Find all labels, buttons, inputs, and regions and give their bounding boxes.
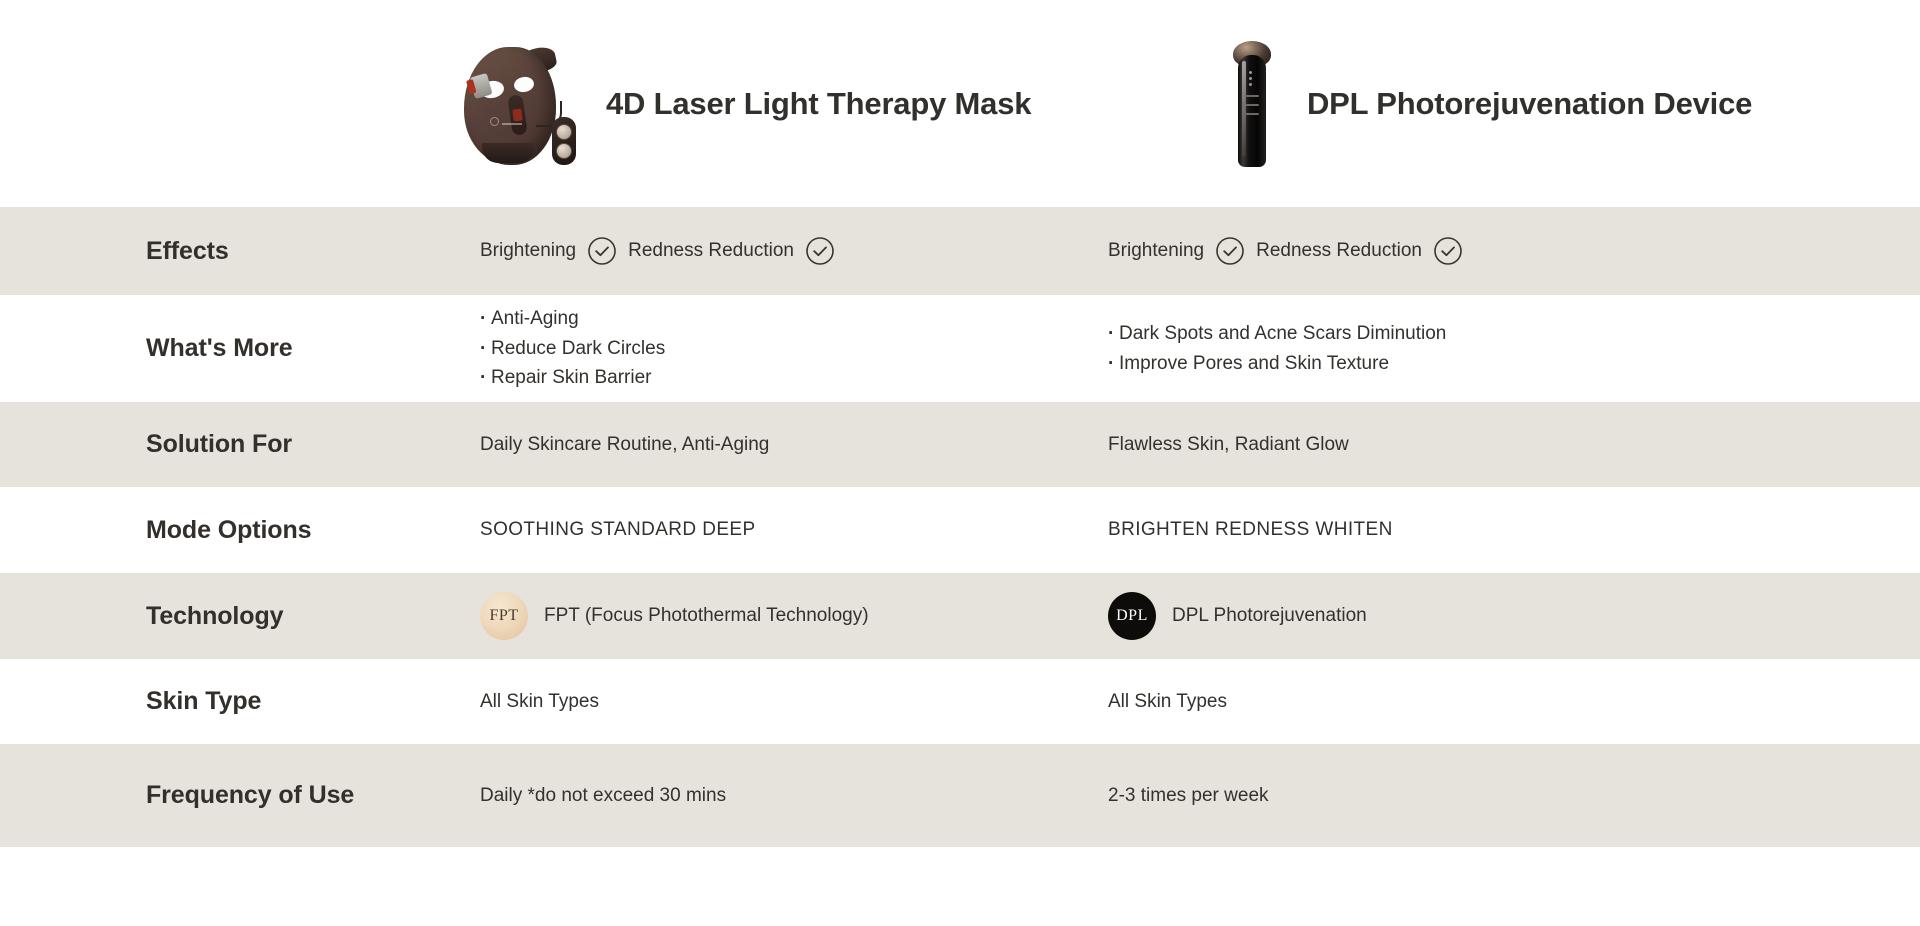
- value-text: SOOTHING STANDARD DEEP: [480, 516, 1088, 544]
- product-title-a: 4D Laser Light Therapy Mask: [606, 86, 1031, 122]
- mask-chin-strap-shape: [482, 143, 534, 163]
- value-text: Daily Skincare Routine, Anti-Aging: [480, 431, 1088, 459]
- row-label-effects: Effects: [0, 237, 480, 266]
- product-header-b: DPL Photorejuvenation Device: [1225, 0, 1885, 207]
- check-circle-icon: [1215, 236, 1245, 266]
- effect-label-brightening-a: Brightening: [480, 240, 576, 262]
- value-text: FPT (Focus Photothermal Technology): [544, 605, 869, 627]
- comparison-header: 4D Laser Light Therapy Mask DPL Photorej…: [0, 0, 1920, 207]
- comparison-table: Effects Brightening Redness Reduction Br…: [0, 207, 1920, 847]
- list-item: Improve Pores and Skin Texture: [1108, 349, 1788, 378]
- mask-brand-logo-icon: [490, 117, 524, 129]
- value-text: Flawless Skin, Radiant Glow: [1108, 431, 1788, 459]
- check-circle-icon: [805, 236, 835, 266]
- table-row-solution-for: Solution For Daily Skincare Routine, Ant…: [0, 402, 1920, 487]
- table-row-frequency-of-use: Frequency of Use Daily *do not exceed 30…: [0, 744, 1920, 847]
- bullet-list-a: Anti-Aging Reduce Dark Circles Repair Sk…: [480, 304, 1088, 392]
- value-text: All Skin Types: [480, 688, 1088, 716]
- row-label-technology: Technology: [0, 602, 480, 631]
- row-label-frequency-of-use: Frequency of Use: [0, 781, 480, 810]
- row-label-mode-options: Mode Options: [0, 516, 480, 545]
- value-text: BRIGHTEN REDNESS WHITEN: [1108, 516, 1788, 544]
- 4d-laser-light-therapy-mask-image: [460, 39, 580, 169]
- value-text: 2-3 times per week: [1108, 782, 1788, 810]
- cell-mode-options-product-b: BRIGHTEN REDNESS WHITEN: [1108, 516, 1808, 544]
- wand-indicator-dots-icon: [1249, 71, 1255, 87]
- effect-label-brightening-b: Brightening: [1108, 240, 1204, 262]
- table-row-whats-more: What's More Anti-Aging Reduce Dark Circl…: [0, 295, 1920, 402]
- cell-frequency-of-use-product-a: Daily *do not exceed 30 mins: [480, 782, 1108, 810]
- product-comparison-page: 4D Laser Light Therapy Mask DPL Photorej…: [0, 0, 1920, 926]
- effect-label-redness-reduction-b: Redness Reduction: [1256, 240, 1422, 262]
- value-text: DPL Photorejuvenation: [1172, 605, 1367, 627]
- list-item: Repair Skin Barrier: [480, 363, 1088, 392]
- check-circle-icon: [587, 236, 617, 266]
- row-label-skin-type: Skin Type: [0, 687, 480, 716]
- cell-solution-for-product-a: Daily Skincare Routine, Anti-Aging: [480, 431, 1108, 459]
- mask-remote-shape: [552, 117, 576, 165]
- cell-skin-type-product-a: All Skin Types: [480, 688, 1108, 716]
- bullet-list-b: Dark Spots and Acne Scars Diminution Imp…: [1108, 319, 1788, 378]
- mask-remote-button-top: [556, 124, 572, 140]
- fpt-badge-icon: FPT: [480, 592, 528, 640]
- mask-remote-button-bottom: [556, 143, 572, 159]
- cell-technology-product-b: DPL DPL Photorejuvenation: [1108, 592, 1808, 640]
- row-label-solution-for: Solution For: [0, 430, 480, 459]
- effect-label-redness-reduction-a: Redness Reduction: [628, 240, 794, 262]
- cell-effects-product-b: Brightening Redness Reduction: [1108, 236, 1808, 266]
- row-label-whats-more: What's More: [0, 334, 480, 363]
- dpl-badge-icon: DPL: [1108, 592, 1156, 640]
- product-title-b: DPL Photorejuvenation Device: [1307, 86, 1752, 122]
- check-circle-icon: [1433, 236, 1463, 266]
- cell-effects-product-a: Brightening Redness Reduction: [480, 236, 1108, 266]
- cell-solution-for-product-b: Flawless Skin, Radiant Glow: [1108, 431, 1808, 459]
- cell-frequency-of-use-product-b: 2-3 times per week: [1108, 782, 1808, 810]
- table-row-skin-type: Skin Type All Skin Types All Skin Types: [0, 659, 1920, 744]
- cell-skin-type-product-b: All Skin Types: [1108, 688, 1808, 716]
- list-item: Anti-Aging: [480, 304, 1088, 333]
- value-text: Daily *do not exceed 30 mins: [480, 782, 1088, 810]
- wand-level-lines-icon: [1245, 95, 1259, 122]
- value-text: All Skin Types: [1108, 688, 1788, 716]
- cell-mode-options-product-a: SOOTHING STANDARD DEEP: [480, 516, 1108, 544]
- dpl-photorejuvenation-device-image: [1225, 39, 1279, 169]
- cell-whats-more-product-a: Anti-Aging Reduce Dark Circles Repair Sk…: [480, 304, 1108, 392]
- list-item: Dark Spots and Acne Scars Diminution: [1108, 319, 1788, 348]
- cell-whats-more-product-b: Dark Spots and Acne Scars Diminution Imp…: [1108, 319, 1808, 378]
- product-header-a: 4D Laser Light Therapy Mask: [460, 0, 1090, 207]
- table-row-mode-options: Mode Options SOOTHING STANDARD DEEP BRIG…: [0, 487, 1920, 573]
- list-item: Reduce Dark Circles: [480, 334, 1088, 363]
- cell-technology-product-a: FPT FPT (Focus Photothermal Technology): [480, 592, 1108, 640]
- table-row-technology: Technology FPT FPT (Focus Photothermal T…: [0, 573, 1920, 659]
- table-row-effects: Effects Brightening Redness Reduction Br…: [0, 207, 1920, 295]
